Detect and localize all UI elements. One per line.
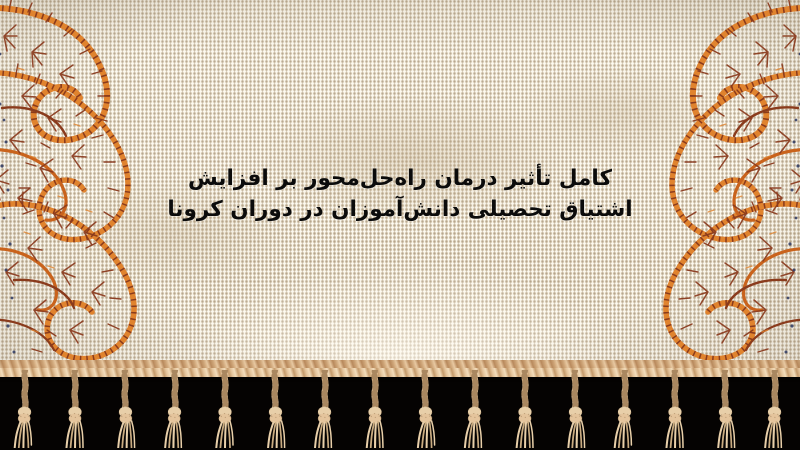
tassel — [613, 370, 637, 448]
tassel — [113, 370, 137, 448]
tassel — [663, 370, 687, 448]
title-line-1: کامل تأثیر درمان راه‌حل‌محور بر افزایش — [0, 163, 800, 194]
tassel — [363, 370, 387, 448]
tassel — [763, 370, 787, 448]
tassel — [313, 370, 337, 448]
tassel — [463, 370, 487, 448]
tassel — [13, 370, 37, 448]
tassel — [213, 370, 237, 448]
title-line-2: اشتیاق تحصیلی دانش‌آموزان در دوران کرونا — [0, 194, 800, 225]
tassel — [413, 370, 437, 448]
tassel — [263, 370, 287, 448]
tassel — [163, 370, 187, 448]
tassel — [63, 370, 87, 448]
tassel — [513, 370, 537, 448]
title-card-canvas: کامل تأثیر درمان راه‌حل‌محور بر افزایش ا… — [0, 0, 800, 450]
tassel-fringe — [0, 368, 800, 450]
title-block: کامل تأثیر درمان راه‌حل‌محور بر افزایش ا… — [0, 163, 800, 225]
tassel — [713, 370, 737, 448]
tassel — [563, 370, 587, 448]
